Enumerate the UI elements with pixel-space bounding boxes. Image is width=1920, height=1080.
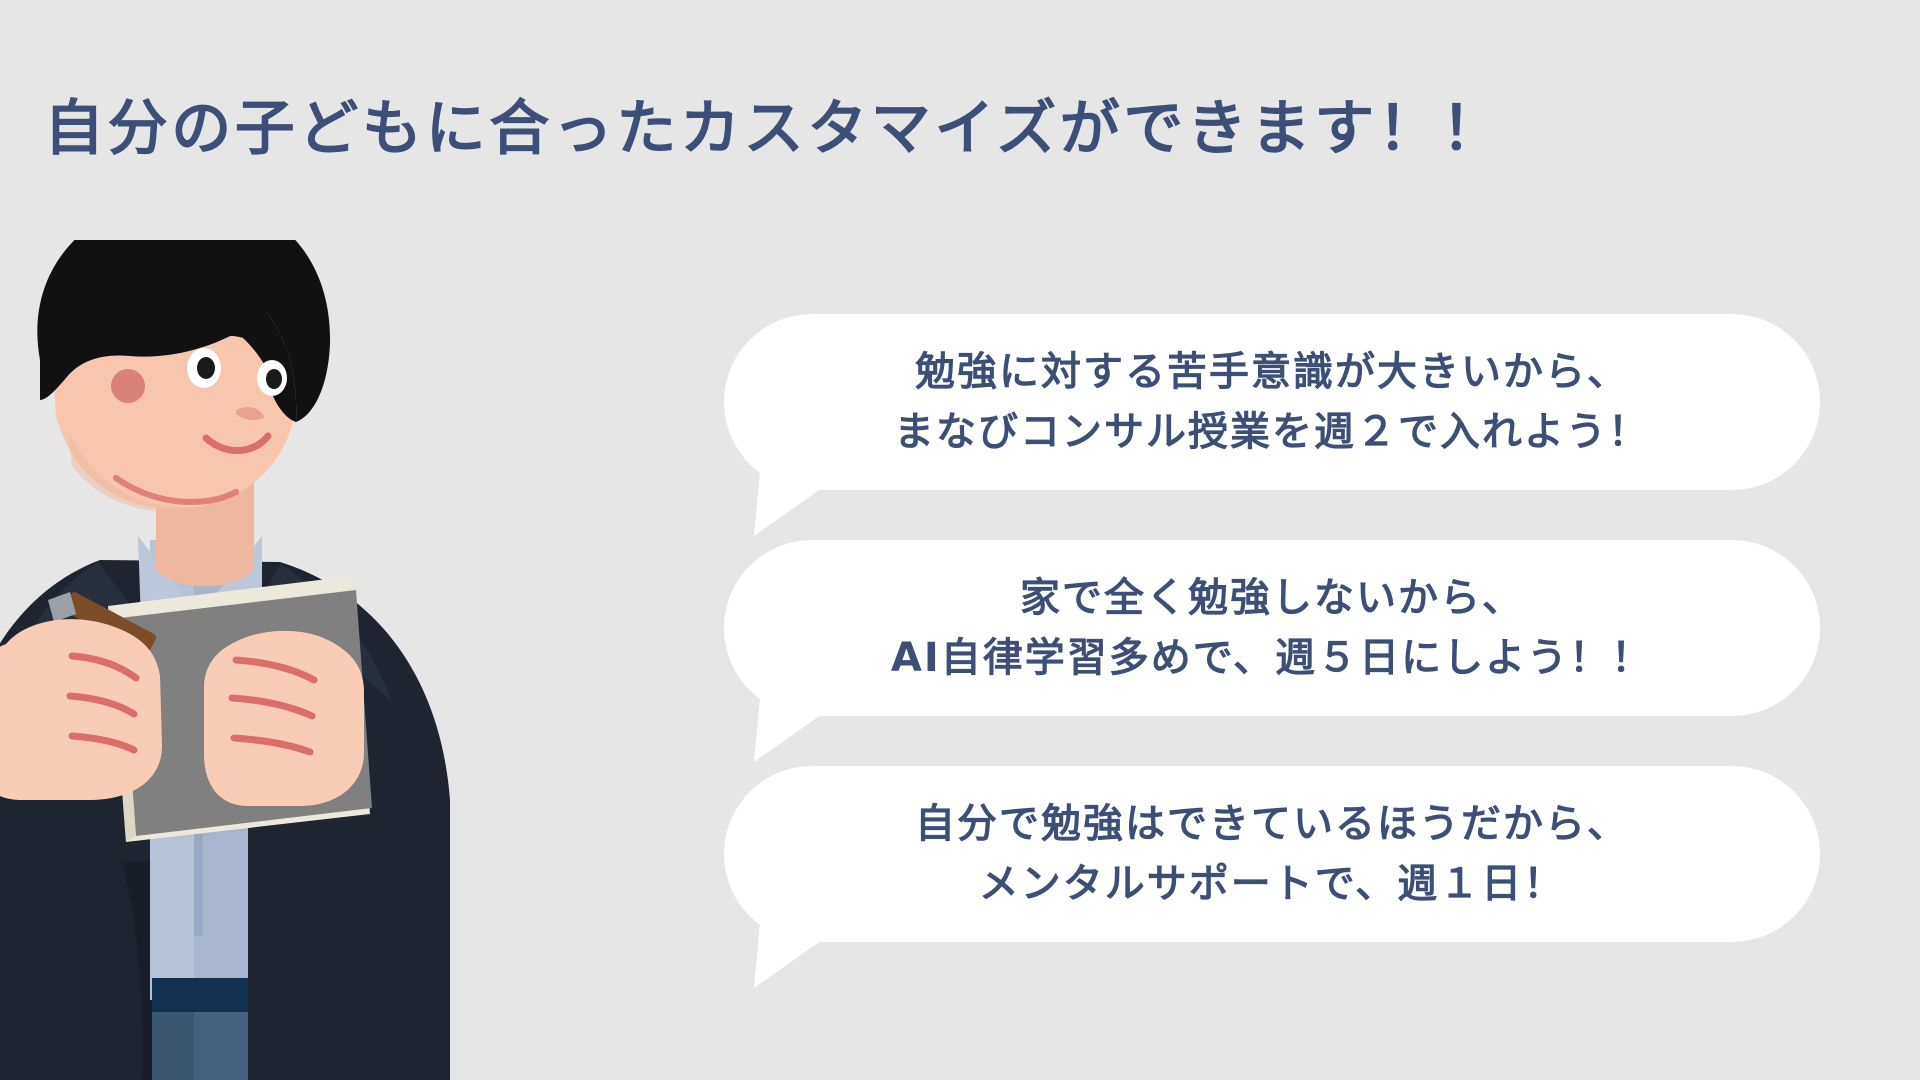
speech-bubble-tail — [754, 924, 826, 988]
speech-bubble-line: 自分で勉強はできているほうだから、 — [915, 794, 1629, 854]
left-hand-shape — [0, 619, 162, 800]
speech-bubble-line: AI自律学習多めで、週５日にしよう！！ — [891, 628, 1653, 688]
speech-bubble-tail — [754, 472, 826, 536]
page-title: 自分の子どもに合ったカスタマイズができます！！ — [44, 96, 1505, 162]
speech-bubble-body: 勉強に対する苦手意識が大きいから、 まなびコンサル授業を週２で入れよう！ — [724, 314, 1820, 490]
speech-bubble-line: 勉強に対する苦手意識が大きいから、 — [915, 342, 1629, 402]
speech-bubble-1: 勉強に対する苦手意識が大きいから、 まなびコンサル授業を週２で入れよう！ — [724, 314, 1820, 490]
speech-bubble-line: メンタルサポートで、週１日！ — [979, 854, 1565, 914]
head-shape — [37, 240, 330, 511]
speech-bubble-3: 自分で勉強はできているほうだから、 メンタルサポートで、週１日！ — [724, 766, 1820, 942]
speech-bubble-2: 家で全く勉強しないから、 AI自律学習多めで、週５日にしよう！！ — [724, 540, 1820, 716]
student-illustration — [0, 240, 660, 1080]
speech-bubble-tail — [754, 698, 826, 762]
pants-shape — [152, 978, 248, 1080]
speech-bubble-line: まなびコンサル授業を週２で入れよう！ — [894, 402, 1650, 462]
right-hand-shape — [204, 631, 364, 806]
speech-bubble-body: 家で全く勉強しないから、 AI自律学習多めで、週５日にしよう！！ — [724, 540, 1820, 716]
speech-bubble-body: 自分で勉強はできているほうだから、 メンタルサポートで、週１日！ — [724, 766, 1820, 942]
speech-bubble-line: 家で全く勉強しないから、 — [1020, 568, 1524, 628]
